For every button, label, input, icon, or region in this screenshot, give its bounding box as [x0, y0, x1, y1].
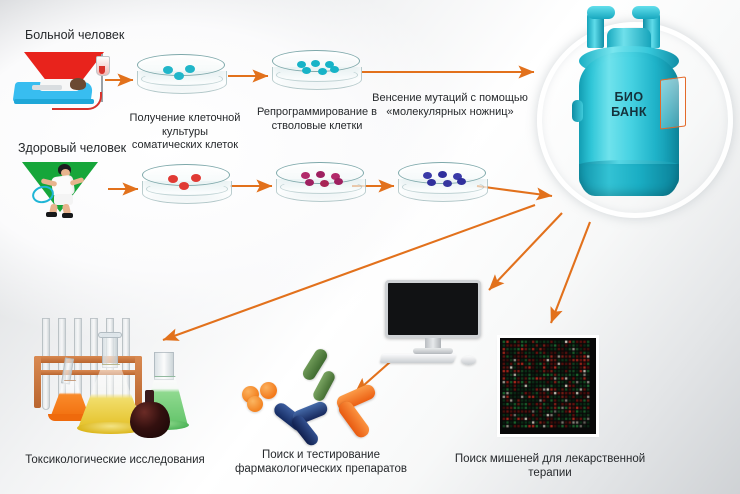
- label-targets-line1: Поиск мишеней для лекарственной: [440, 452, 660, 466]
- computer-workstation: [385, 280, 481, 364]
- tablet-orange-a: [260, 382, 277, 399]
- label-reprogramming-line1: Репрограммирование в: [256, 106, 378, 120]
- flask-dark: [130, 390, 170, 438]
- healthy-somatic-dish: [142, 164, 230, 204]
- healthy-reprogrammed-dish: [276, 162, 364, 202]
- label-targets-line2: терапии: [440, 466, 660, 480]
- keyboard: [380, 354, 457, 363]
- label-toxicology: Токсикологические исследования: [10, 453, 220, 467]
- cell-dot: [305, 179, 314, 186]
- label-healthy: Здоровый человек: [18, 141, 126, 157]
- rack-post-left: [34, 356, 41, 408]
- patient-figure: [12, 52, 112, 114]
- iv-tube: [52, 92, 102, 110]
- cell-dot: [316, 171, 325, 178]
- cell-dot: [311, 60, 320, 67]
- cell-dot: [174, 72, 184, 80]
- cell-dot: [318, 68, 327, 75]
- label-somatic-culture-line2: соматических клеток: [110, 139, 260, 153]
- biobank-label-line1: БИО: [579, 90, 679, 105]
- diagram-canvas: Больной человек: [0, 0, 740, 494]
- label-somatic-culture: Получение клеточной культуры соматически…: [110, 112, 260, 153]
- label-mutation-line1: Венсение мутаций с помощью: [370, 92, 530, 106]
- cell-dot: [185, 65, 195, 73]
- label-somatic-culture-line1: Получение клеточной культуры: [110, 112, 260, 139]
- healthy-figure: [14, 162, 110, 220]
- biobank-label-line2: БАНК: [579, 105, 679, 120]
- cell-dot: [179, 182, 189, 190]
- cell-dot: [438, 171, 447, 178]
- tank-handle-left: [587, 10, 604, 48]
- mouse: [461, 356, 476, 365]
- healthy-stem-dish: [398, 162, 486, 202]
- label-drug-targets: Поиск мишеней для лекарственной терапии: [440, 452, 660, 481]
- somatic-cells-dish: [137, 54, 225, 94]
- label-pharma-line1: Поиск и тестирование: [226, 448, 416, 462]
- microarray-grid: [502, 340, 590, 428]
- pharmaceutical-capsules: [236, 358, 386, 446]
- label-reprogramming-line2: стволовые клетки: [256, 120, 378, 134]
- label-pharma-testing: Поиск и тестирование фармакологических п…: [226, 448, 416, 477]
- cell-dot: [330, 66, 339, 73]
- label-patient: Больной человек: [25, 28, 124, 44]
- monitor-screen: [385, 280, 481, 338]
- tank-base: [579, 164, 679, 196]
- label-mutation-insertion: Венсение мутаций с помощью «молекулярных…: [370, 92, 530, 119]
- biobank-label: БИО БАНК: [579, 90, 679, 119]
- cell-dot: [457, 178, 466, 185]
- cell-dot: [427, 179, 436, 186]
- label-pharma-line2: фармакологических препаратов: [226, 462, 416, 476]
- stem-cells-dish: [272, 50, 360, 90]
- tablet-orange-c: [247, 396, 263, 412]
- arrow-biobank-to-microarray: [551, 222, 590, 323]
- label-reprogramming: Репрограммирование в стволовые клетки: [256, 106, 378, 133]
- cell-dot: [302, 67, 311, 74]
- cell-dot: [334, 178, 343, 185]
- dna-microarray: [500, 338, 596, 434]
- cell-dot: [320, 180, 329, 187]
- cell-dot: [443, 180, 452, 187]
- biobank-cryotank: БИО БАНК: [519, 4, 735, 226]
- laboratory-glassware: [6, 316, 206, 448]
- label-mutation-line2: «молекулярных ножниц»: [370, 106, 530, 120]
